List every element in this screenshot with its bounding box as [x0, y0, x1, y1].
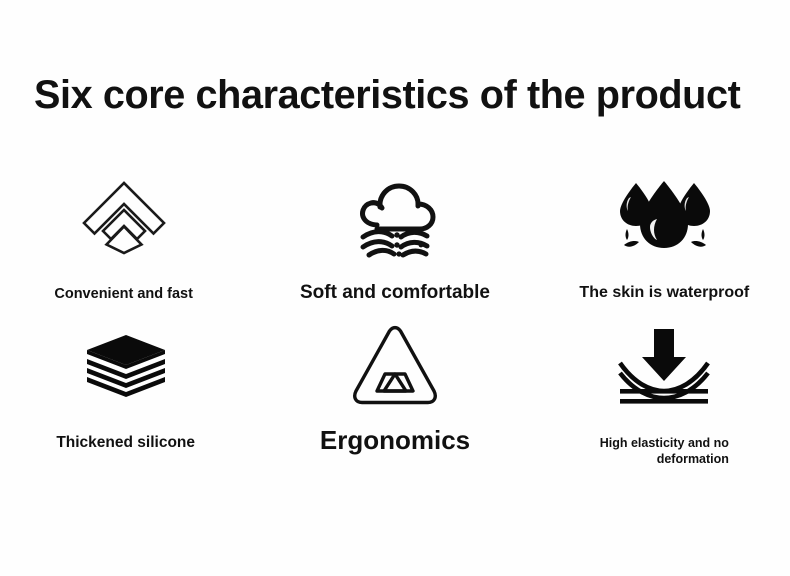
feature-label-skin-is-waterproof: The skin is waterproof	[579, 284, 749, 302]
feature-label-high-elasticity-line1: High elasticity and no	[600, 436, 729, 452]
feature-label-high-elasticity: High elasticity and no deformation	[600, 436, 729, 467]
cloud-waves-icon	[347, 170, 443, 265]
double-chevron-diamond-icon	[80, 170, 168, 265]
feature-label-high-elasticity-line2: deformation	[600, 452, 729, 468]
feature-soft-and-comfortable: Soft and comfortable	[263, 170, 526, 320]
feature-grid: Convenient and fast	[0, 170, 790, 470]
page-title: Six core characteristics of the product	[34, 72, 751, 118]
infographic-page: Six core characteristics of the product	[0, 0, 790, 576]
feature-ergonomics: Ergonomics	[263, 320, 526, 470]
feature-high-elasticity: High elasticity and no deformation	[533, 320, 790, 470]
feature-label-thickened-silicone: Thickened silicone	[56, 434, 195, 452]
rounded-triangle-icon	[349, 320, 441, 412]
feature-thickened-silicone: Thickened silicone	[0, 320, 257, 470]
feature-convenient-and-fast: Convenient and fast	[0, 170, 255, 320]
feature-label-convenient-and-fast: Convenient and fast	[54, 286, 193, 303]
water-droplets-icon	[612, 170, 716, 265]
arrow-press-elastic-icon	[616, 320, 712, 412]
feature-label-soft-and-comfortable: Soft and comfortable	[300, 282, 490, 304]
feature-label-ergonomics: Ergonomics	[320, 426, 470, 456]
feature-skin-is-waterproof: The skin is waterproof	[533, 170, 790, 320]
stacked-layers-icon	[83, 320, 169, 412]
